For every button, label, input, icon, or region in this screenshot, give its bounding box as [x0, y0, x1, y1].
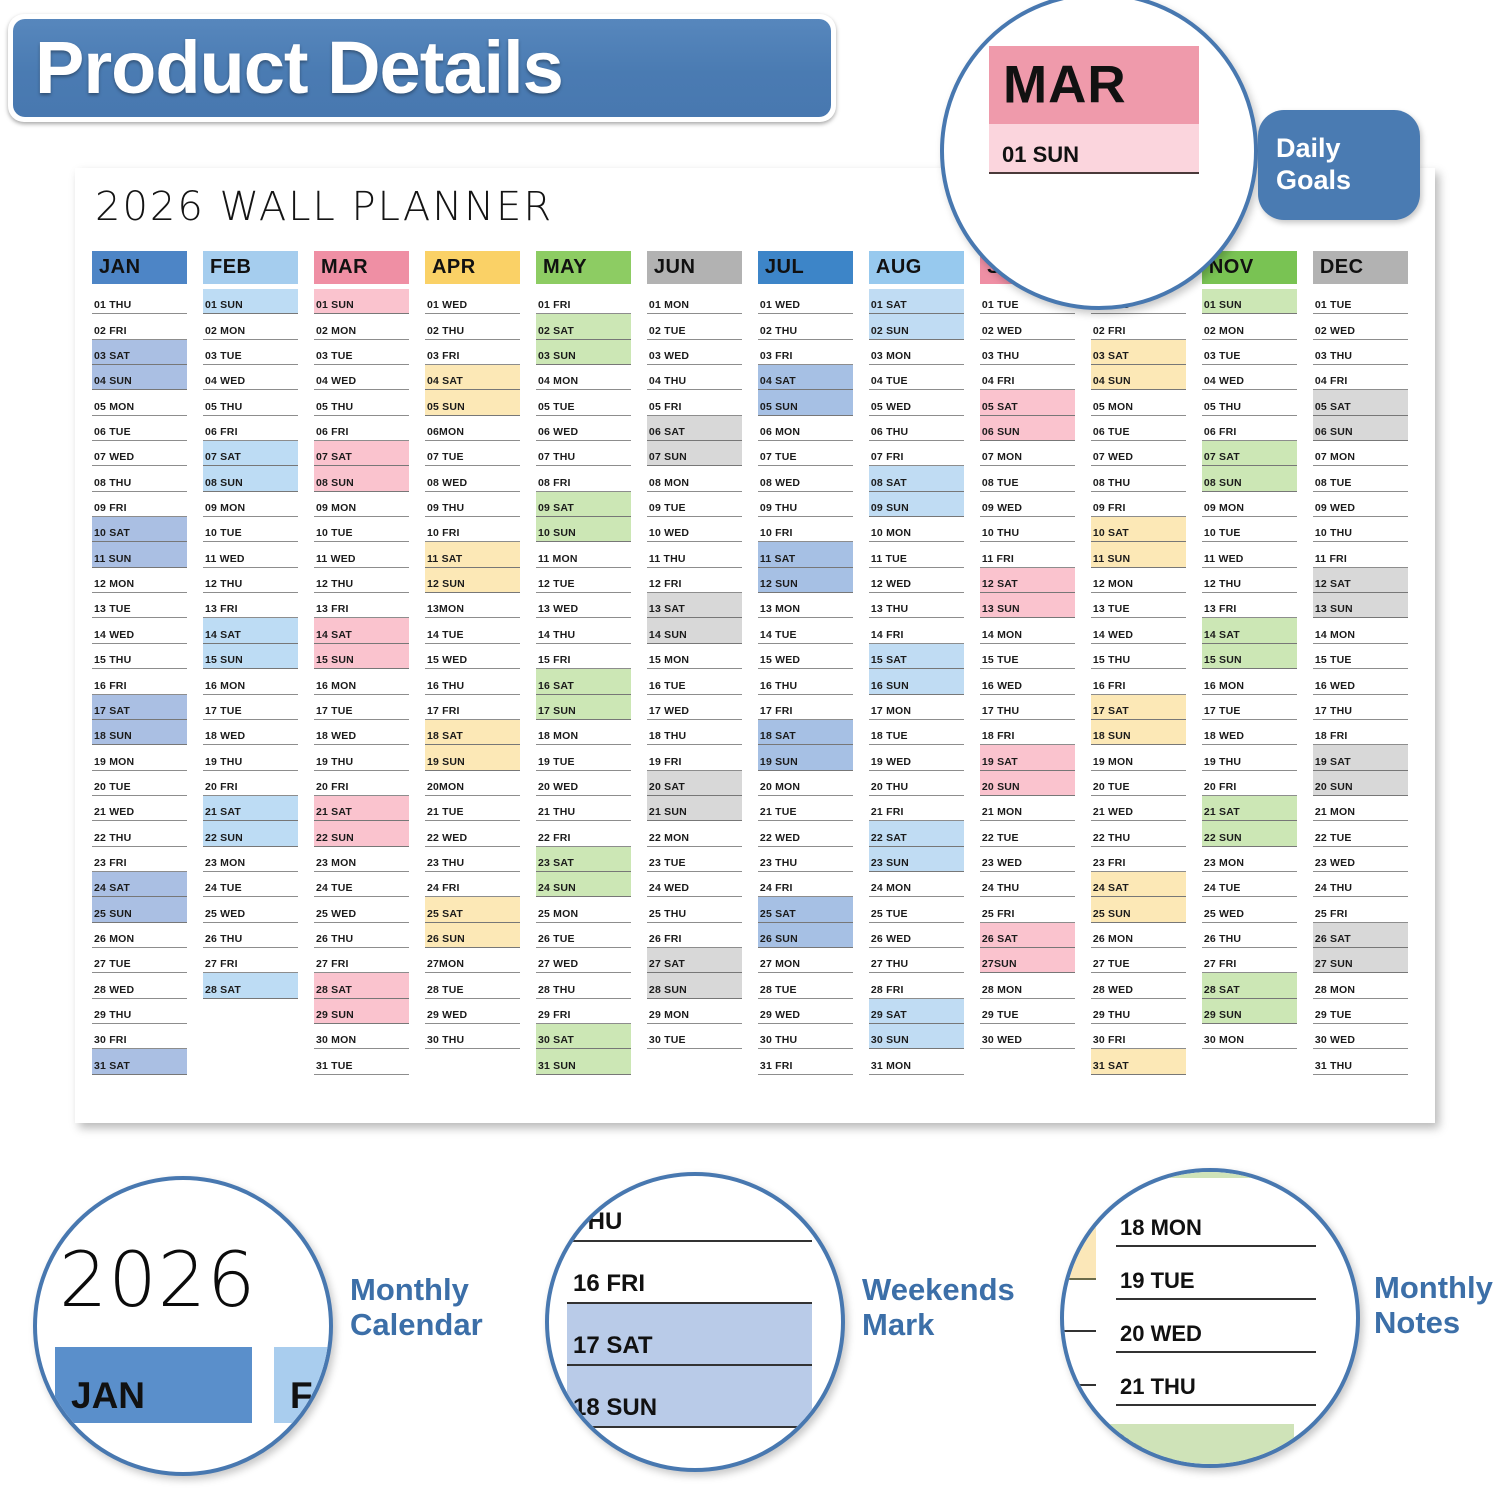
day-row[interactable]: 29 FRI [536, 999, 631, 1024]
day-row[interactable]: 17 TUE [203, 695, 298, 720]
day-row[interactable]: 18 TUE [869, 720, 964, 745]
day-row[interactable]: 09 MON [314, 492, 409, 517]
day-row[interactable]: 31 MON [869, 1049, 964, 1074]
day-row[interactable]: 05 THU [314, 390, 409, 415]
day-row[interactable]: 10 WED [647, 517, 742, 542]
day-row[interactable]: 30 THU [758, 1024, 853, 1049]
day-row[interactable]: 20 FRI [203, 771, 298, 796]
day-row[interactable]: 24 SAT [1091, 872, 1186, 897]
day-row[interactable]: 13 TUE [92, 593, 187, 618]
day-row[interactable]: 04 WED [1202, 365, 1297, 390]
day-row[interactable]: 21 FRI [869, 796, 964, 821]
day-row[interactable]: 18 WED [1202, 720, 1297, 745]
day-row[interactable]: 22 TUE [980, 821, 1075, 846]
day-row[interactable]: 15 TUE [980, 644, 1075, 669]
day-row[interactable]: 05 FRI [647, 390, 742, 415]
day-row[interactable]: 16 THU [425, 669, 520, 694]
day-row[interactable]: 22 MON [647, 821, 742, 846]
day-row[interactable]: 07 SAT [203, 441, 298, 466]
day-row[interactable]: 01 THU [92, 289, 187, 314]
day-row[interactable]: 11 WED [203, 542, 298, 567]
day-row[interactable]: 15 THU [92, 644, 187, 669]
day-row[interactable]: 01 SUN [314, 289, 409, 314]
day-row[interactable]: 23 SAT [536, 847, 631, 872]
day-row[interactable]: 06 FRI [203, 416, 298, 441]
day-row[interactable]: 03 TUE [314, 340, 409, 365]
day-row[interactable]: 01 SAT [869, 289, 964, 314]
day-row[interactable]: 06 TUE [92, 416, 187, 441]
day-row[interactable]: 25 WED [203, 897, 298, 922]
day-row[interactable]: 25 SUN [1091, 897, 1186, 922]
day-row[interactable]: 18 MON [536, 720, 631, 745]
day-row[interactable]: 27 SUN [1313, 948, 1408, 973]
day-row[interactable]: 14 SAT [203, 618, 298, 643]
day-row[interactable]: 18 THU [647, 720, 742, 745]
day-row[interactable]: 21 SUN [647, 796, 742, 821]
day-row[interactable]: 30 THU [425, 1024, 520, 1049]
day-row[interactable]: 01 SUN [1202, 289, 1297, 314]
day-row[interactable]: 14 SUN [647, 618, 742, 643]
day-row[interactable]: 06MON [425, 416, 520, 441]
day-row[interactable]: 11 SAT [758, 542, 853, 567]
day-row[interactable]: 17 WED [647, 695, 742, 720]
day-row[interactable]: 26 WED [869, 923, 964, 948]
day-row[interactable]: 12 WED [869, 568, 964, 593]
day-row[interactable]: 16 WED [1313, 669, 1408, 694]
day-row[interactable]: 20 SAT [647, 771, 742, 796]
day-row[interactable]: 08 SUN [314, 466, 409, 491]
day-row[interactable]: 12 SAT [1313, 568, 1408, 593]
day-row[interactable]: 01 SUN [203, 289, 298, 314]
day-row[interactable]: 23 TUE [647, 847, 742, 872]
day-row[interactable]: 05 SUN [758, 390, 853, 415]
day-row[interactable]: 19 WED [869, 745, 964, 770]
day-row[interactable]: 01 FRI [536, 289, 631, 314]
day-row[interactable]: 13 TUE [1091, 593, 1186, 618]
day-row[interactable]: 16 TUE [647, 669, 742, 694]
day-row[interactable]: 04 WED [203, 365, 298, 390]
day-row[interactable]: 04 SAT [425, 365, 520, 390]
day-row[interactable]: 24 MON [869, 872, 964, 897]
day-row[interactable]: 17 THU [1313, 695, 1408, 720]
day-row[interactable]: 02 TUE [647, 314, 742, 339]
day-row[interactable]: 20 FRI [1202, 771, 1297, 796]
day-row[interactable]: 06 WED [536, 416, 631, 441]
day-row[interactable]: 04 WED [314, 365, 409, 390]
day-row[interactable]: 06 SUN [1313, 416, 1408, 441]
day-row[interactable]: 16 FRI [92, 669, 187, 694]
day-row[interactable]: 19 FRI [647, 745, 742, 770]
day-row[interactable]: 30 SUN [869, 1024, 964, 1049]
day-row[interactable]: 19 TUE [536, 745, 631, 770]
day-row[interactable]: 12 MON [92, 568, 187, 593]
day-row[interactable]: 09 MON [1202, 492, 1297, 517]
day-row[interactable]: 07 TUE [758, 441, 853, 466]
day-row[interactable]: 08 MON [647, 466, 742, 491]
day-row[interactable]: 15 TUE [1313, 644, 1408, 669]
day-row[interactable]: 03 FRI [758, 340, 853, 365]
day-row[interactable]: 26 SUN [758, 923, 853, 948]
day-row[interactable]: 16 MON [203, 669, 298, 694]
day-row[interactable]: 27MON [425, 948, 520, 973]
day-row[interactable]: 21 TUE [425, 796, 520, 821]
day-row[interactable]: 22 SUN [314, 821, 409, 846]
day-row[interactable]: 29 SAT [869, 999, 964, 1024]
day-row[interactable]: 05 SAT [980, 390, 1075, 415]
day-row[interactable]: 06 TUE [1091, 416, 1186, 441]
day-row[interactable]: 15 SUN [314, 644, 409, 669]
day-row[interactable]: 13 THU [869, 593, 964, 618]
day-row[interactable]: 27 MON [758, 948, 853, 973]
day-row[interactable]: 15 SUN [203, 644, 298, 669]
day-row[interactable]: 11 FRI [980, 542, 1075, 567]
day-row[interactable]: 29 WED [758, 999, 853, 1024]
day-row[interactable]: 28 FRI [869, 973, 964, 998]
day-row[interactable]: 15 WED [425, 644, 520, 669]
day-row[interactable]: 20 TUE [1091, 771, 1186, 796]
day-row[interactable]: 17 MON [869, 695, 964, 720]
day-row[interactable]: 13 SUN [980, 593, 1075, 618]
day-row[interactable]: 11 SAT [425, 542, 520, 567]
day-row[interactable]: 16 SAT [536, 669, 631, 694]
day-row[interactable]: 24 SUN [536, 872, 631, 897]
day-row[interactable]: 24 THU [980, 872, 1075, 897]
day-row[interactable]: 30 MON [1202, 1024, 1297, 1049]
day-row[interactable]: 24 SAT [92, 872, 187, 897]
day-row[interactable]: 18 SUN [92, 720, 187, 745]
day-row[interactable]: 22 SUN [1202, 821, 1297, 846]
day-row[interactable]: 09 FRI [92, 492, 187, 517]
day-row[interactable]: 10 FRI [758, 517, 853, 542]
day-row[interactable]: 22 THU [1091, 821, 1186, 846]
day-row[interactable]: 23 WED [1313, 847, 1408, 872]
day-row[interactable]: 31 TUE [314, 1049, 409, 1074]
day-row[interactable]: 12 TUE [536, 568, 631, 593]
day-row[interactable]: 12 SUN [425, 568, 520, 593]
day-row[interactable]: 29 SUN [1202, 999, 1297, 1024]
day-row[interactable]: 19 THU [1202, 745, 1297, 770]
day-row[interactable]: 26 SUN [425, 923, 520, 948]
day-row[interactable]: 11 SUN [92, 542, 187, 567]
day-row[interactable]: 12 THU [203, 568, 298, 593]
day-row[interactable]: 19 THU [314, 745, 409, 770]
day-row[interactable]: 01 TUE [1313, 289, 1408, 314]
day-row[interactable]: 22 FRI [536, 821, 631, 846]
day-row[interactable]: 11 WED [1202, 542, 1297, 567]
day-row[interactable]: 27 WED [536, 948, 631, 973]
day-row[interactable]: 28 MON [1313, 973, 1408, 998]
day-row[interactable]: 06 SAT [647, 416, 742, 441]
day-row[interactable]: 30 SAT [536, 1024, 631, 1049]
day-row[interactable]: 24 FRI [425, 872, 520, 897]
day-row[interactable]: 13 FRI [1202, 593, 1297, 618]
day-row[interactable]: 04 MON [536, 365, 631, 390]
day-row[interactable]: 26 THU [203, 923, 298, 948]
day-row[interactable]: 12 SAT [980, 568, 1075, 593]
day-row[interactable]: 31 SAT [92, 1049, 187, 1074]
day-row[interactable]: 29 TUE [1313, 999, 1408, 1024]
day-row[interactable]: 21 WED [92, 796, 187, 821]
day-row[interactable]: 02 SAT [536, 314, 631, 339]
day-row[interactable]: 03 THU [980, 340, 1075, 365]
monthly-notes-row[interactable]: 18 MON [1116, 1194, 1316, 1247]
day-row[interactable]: 16 THU [758, 669, 853, 694]
day-row[interactable]: 20 TUE [92, 771, 187, 796]
day-row[interactable]: 14 MON [1313, 618, 1408, 643]
day-row[interactable]: 06 FRI [1202, 416, 1297, 441]
day-row[interactable]: 13 MON [758, 593, 853, 618]
day-row[interactable]: 10 THU [980, 517, 1075, 542]
day-row[interactable]: 11 SUN [1091, 542, 1186, 567]
day-row[interactable]: 09 MON [203, 492, 298, 517]
day-row[interactable]: 22 SUN [203, 821, 298, 846]
day-row[interactable]: 12 SUN [758, 568, 853, 593]
day-row[interactable]: 02 THU [425, 314, 520, 339]
day-row[interactable]: 30 WED [980, 1024, 1075, 1049]
day-row[interactable]: 24 TUE [314, 872, 409, 897]
day-row[interactable]: 28 SAT [314, 973, 409, 998]
day-row[interactable]: 23 SUN [869, 847, 964, 872]
day-row[interactable]: 09 WED [980, 492, 1075, 517]
day-row[interactable]: 13 SAT [647, 593, 742, 618]
day-row[interactable]: 05 THU [203, 390, 298, 415]
day-row[interactable]: 13 SUN [1313, 593, 1408, 618]
day-row[interactable]: 05 MON [92, 390, 187, 415]
day-row[interactable]: 07 SAT [1202, 441, 1297, 466]
day-row[interactable]: 07 WED [1091, 441, 1186, 466]
day-row[interactable]: 31 THU [1313, 1049, 1408, 1074]
day-row[interactable]: 18 SUN [1091, 720, 1186, 745]
day-row[interactable]: 08 SUN [203, 466, 298, 491]
day-row[interactable]: 03 SAT [1091, 340, 1186, 365]
day-row[interactable]: 29 MON [647, 999, 742, 1024]
day-row[interactable]: 23 FRI [1091, 847, 1186, 872]
day-row[interactable]: 04 SAT [758, 365, 853, 390]
day-row[interactable]: 25 WED [314, 897, 409, 922]
day-row[interactable]: 10 TUE [1202, 517, 1297, 542]
day-row[interactable]: 18 WED [314, 720, 409, 745]
day-row[interactable]: 25 FRI [1313, 897, 1408, 922]
day-row[interactable]: 12 FRI [647, 568, 742, 593]
day-row[interactable]: 07 THU [536, 441, 631, 466]
day-row[interactable]: 21 SAT [203, 796, 298, 821]
day-row[interactable]: 28 SUN [647, 973, 742, 998]
day-row[interactable]: 05 MON [1091, 390, 1186, 415]
day-row[interactable]: 15 FRI [536, 644, 631, 669]
day-row[interactable]: 27 FRI [314, 948, 409, 973]
day-row[interactable]: 02 WED [980, 314, 1075, 339]
day-row[interactable]: 23 FRI [92, 847, 187, 872]
day-row[interactable]: 15 WED [758, 644, 853, 669]
day-row[interactable]: 25 MON [536, 897, 631, 922]
day-row[interactable]: 02 SUN [869, 314, 964, 339]
day-row[interactable]: 22 TUE [1313, 821, 1408, 846]
day-row[interactable]: 08 WED [425, 466, 520, 491]
day-row[interactable]: 21 SAT [1202, 796, 1297, 821]
day-row[interactable]: 22 WED [425, 821, 520, 846]
day-row[interactable]: 03 WED [647, 340, 742, 365]
day-row[interactable]: 09 WED [1313, 492, 1408, 517]
day-row[interactable]: 18 FRI [1313, 720, 1408, 745]
day-row[interactable]: 24 TUE [1202, 872, 1297, 897]
day-row[interactable]: 30 FRI [92, 1024, 187, 1049]
day-row[interactable]: 26 THU [1202, 923, 1297, 948]
day-row[interactable]: 05 SAT [1313, 390, 1408, 415]
day-row[interactable]: 08 FRI [536, 466, 631, 491]
day-row[interactable]: 06 MON [758, 416, 853, 441]
day-row[interactable]: 02 FRI [1091, 314, 1186, 339]
day-row[interactable]: 10 FRI [425, 517, 520, 542]
day-row[interactable]: 18 SAT [758, 720, 853, 745]
day-row[interactable]: 08 WED [758, 466, 853, 491]
day-row[interactable]: 21 TUE [758, 796, 853, 821]
day-row[interactable]: 28 SAT [203, 973, 298, 998]
day-row[interactable]: 13 FRI [203, 593, 298, 618]
day-row[interactable]: 14 TUE [425, 618, 520, 643]
day-row[interactable]: 16 WED [980, 669, 1075, 694]
day-row[interactable]: 19 SAT [980, 745, 1075, 770]
day-row[interactable]: 03 FRI [425, 340, 520, 365]
day-row[interactable]: 19 SAT [1313, 745, 1408, 770]
day-row[interactable]: 29 SUN [314, 999, 409, 1024]
day-row[interactable]: 17 FRI [758, 695, 853, 720]
day-row[interactable]: 23 THU [425, 847, 520, 872]
day-row[interactable]: 14 MON [980, 618, 1075, 643]
day-row[interactable]: 19 THU [203, 745, 298, 770]
day-row[interactable]: 09 FRI [1091, 492, 1186, 517]
day-row[interactable]: 10 MON [869, 517, 964, 542]
day-row[interactable]: 09 SUN [869, 492, 964, 517]
day-row[interactable]: 19 SUN [758, 745, 853, 770]
day-row[interactable]: 17 SAT [92, 695, 187, 720]
day-row[interactable]: 28 WED [1091, 973, 1186, 998]
day-row[interactable]: 04 FRI [980, 365, 1075, 390]
day-row[interactable]: 28 TUE [425, 973, 520, 998]
day-row[interactable]: 04 THU [647, 365, 742, 390]
day-row[interactable]: 12 THU [1202, 568, 1297, 593]
day-row[interactable]: 03 THU [1313, 340, 1408, 365]
day-row[interactable]: 12 THU [314, 568, 409, 593]
day-row[interactable]: 09 TUE [647, 492, 742, 517]
day-row[interactable]: 07 SAT [314, 441, 409, 466]
day-row[interactable]: 26 SAT [980, 923, 1075, 948]
day-row[interactable]: 13MON [425, 593, 520, 618]
day-row[interactable]: 16 SUN [869, 669, 964, 694]
day-row[interactable]: 23 MON [314, 847, 409, 872]
day-row[interactable]: 23 WED [980, 847, 1075, 872]
day-row[interactable]: 23 MON [1202, 847, 1297, 872]
day-row[interactable]: 31 FRI [758, 1049, 853, 1074]
day-row[interactable]: 04 FRI [1313, 365, 1408, 390]
day-row[interactable]: 14 THU [536, 618, 631, 643]
day-row[interactable]: 07 MON [980, 441, 1075, 466]
day-row[interactable]: 25 FRI [980, 897, 1075, 922]
day-row[interactable]: 21 MON [980, 796, 1075, 821]
day-row[interactable]: 03 SAT [92, 340, 187, 365]
day-row[interactable]: 10 SAT [1091, 517, 1186, 542]
day-row[interactable]: 03 MON [869, 340, 964, 365]
day-row[interactable]: 08 SUN [1202, 466, 1297, 491]
day-row[interactable]: 02 WED [1313, 314, 1408, 339]
day-row[interactable]: 09 SAT [536, 492, 631, 517]
day-row[interactable]: 06 THU [869, 416, 964, 441]
day-row[interactable]: 01 MON [647, 289, 742, 314]
day-row[interactable]: 07 WED [92, 441, 187, 466]
day-row[interactable]: 10 TUE [314, 517, 409, 542]
day-row[interactable]: 27 THU [869, 948, 964, 973]
day-row[interactable]: 16 FRI [1091, 669, 1186, 694]
day-row[interactable]: 15 THU [1091, 644, 1186, 669]
day-row[interactable]: 27 FRI [1202, 948, 1297, 973]
day-row[interactable]: 01 WED [425, 289, 520, 314]
day-row[interactable]: 04 SUN [1091, 365, 1186, 390]
day-row[interactable]: 23 MON [203, 847, 298, 872]
day-row[interactable]: 03 TUE [1202, 340, 1297, 365]
day-row[interactable]: 25 THU [647, 897, 742, 922]
day-row[interactable]: 14 WED [92, 618, 187, 643]
day-row[interactable]: 14 WED [1091, 618, 1186, 643]
day-row[interactable]: 30 WED [1313, 1024, 1408, 1049]
day-row[interactable]: 29 THU [1091, 999, 1186, 1024]
day-row[interactable]: 11 TUE [869, 542, 964, 567]
day-row[interactable]: 07 FRI [869, 441, 964, 466]
day-row[interactable]: 17 SUN [536, 695, 631, 720]
day-row[interactable]: 30 MON [314, 1024, 409, 1049]
day-row[interactable]: 25 TUE [869, 897, 964, 922]
day-row[interactable]: 29 WED [425, 999, 520, 1024]
day-row[interactable]: 22 WED [758, 821, 853, 846]
day-row[interactable]: 16 MON [1202, 669, 1297, 694]
day-row[interactable]: 05 TUE [536, 390, 631, 415]
day-row[interactable]: 18 FRI [980, 720, 1075, 745]
day-row[interactable]: 18 WED [203, 720, 298, 745]
day-row[interactable]: 19 MON [1091, 745, 1186, 770]
day-row[interactable]: 20 SUN [1313, 771, 1408, 796]
day-row[interactable]: 03 TUE [203, 340, 298, 365]
day-row[interactable]: 09 THU [425, 492, 520, 517]
day-row[interactable]: 28 SAT [1202, 973, 1297, 998]
day-row[interactable]: 20 SUN [980, 771, 1075, 796]
day-row[interactable]: 10 SAT [92, 517, 187, 542]
day-row[interactable]: 16 MON [314, 669, 409, 694]
day-row[interactable]: 07 MON [1313, 441, 1408, 466]
day-row[interactable]: 22 THU [92, 821, 187, 846]
day-row[interactable]: 17 SAT [1091, 695, 1186, 720]
day-row[interactable]: 25 SUN [92, 897, 187, 922]
day-row[interactable]: 04 SUN [92, 365, 187, 390]
day-row[interactable]: 05 THU [1202, 390, 1297, 415]
day-row[interactable]: 27 TUE [1091, 948, 1186, 973]
day-row[interactable]: 21 MON [1313, 796, 1408, 821]
day-row[interactable]: 26 FRI [647, 923, 742, 948]
day-row[interactable]: 24 TUE [203, 872, 298, 897]
day-row[interactable]: 07 TUE [425, 441, 520, 466]
day-row[interactable]: 26 SAT [1313, 923, 1408, 948]
day-row[interactable]: 30 FRI [1091, 1024, 1186, 1049]
day-row[interactable]: 20MON [425, 771, 520, 796]
day-row[interactable]: 14 SAT [314, 618, 409, 643]
day-row[interactable]: 27 SAT [647, 948, 742, 973]
day-row[interactable]: 02 THU [758, 314, 853, 339]
day-row[interactable]: 27 TUE [92, 948, 187, 973]
day-row[interactable]: 14 SAT [1202, 618, 1297, 643]
day-row[interactable]: 21 WED [1091, 796, 1186, 821]
monthly-notes-row[interactable]: 21 THU [1116, 1353, 1316, 1406]
day-row[interactable]: 06 SUN [980, 416, 1075, 441]
day-row[interactable]: 05 SUN [425, 390, 520, 415]
day-row[interactable]: 31 SUN [536, 1049, 631, 1074]
day-row[interactable]: 27SUN [980, 948, 1075, 973]
